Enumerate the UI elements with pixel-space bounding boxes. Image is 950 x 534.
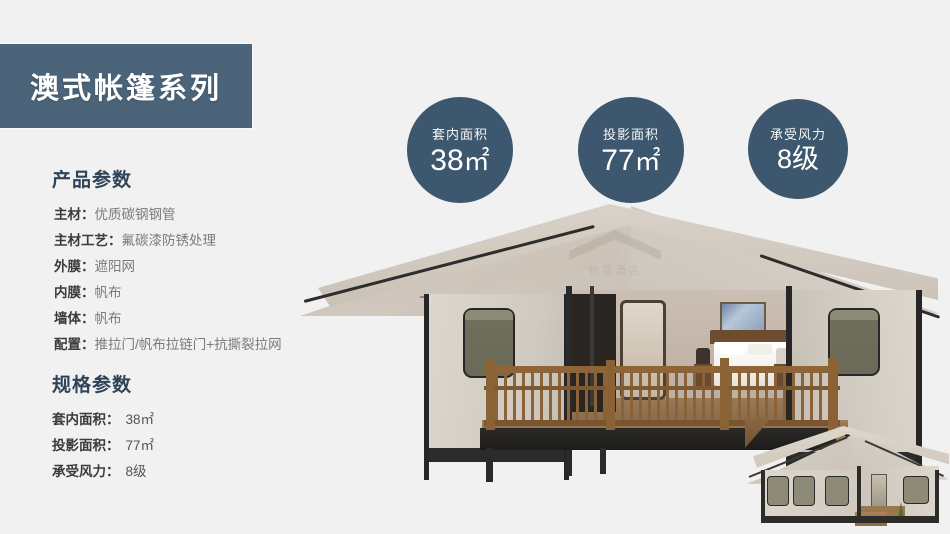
param-label: 主材工艺： <box>54 233 122 248</box>
thumb-post <box>857 466 861 522</box>
thumb-window <box>825 476 849 506</box>
railing-mid-rail <box>484 386 840 390</box>
thumb-door <box>871 474 887 510</box>
param-label: 外膜： <box>54 259 95 274</box>
spec-value: 38㎡ <box>120 412 155 427</box>
watermark-roof-icon <box>569 230 661 260</box>
param-row: 主材工艺：氟碳漆防锈处理 <box>52 228 282 254</box>
stat-badge-interior-area: 套内面积 38㎡ <box>407 97 513 203</box>
railing-post <box>606 360 615 430</box>
spec-label: 套内面积： <box>52 412 120 427</box>
product-parameters-section: 产品参数 主材：优质碳钢钢管 主材工艺：氟碳漆防锈处理 外膜：遮阳网 内膜：帆布… <box>52 165 282 358</box>
param-value: 帆布 <box>95 285 122 300</box>
param-row: 配置：推拉门/帆布拉链门+抗撕裂拉网 <box>52 332 282 358</box>
tent-thumbnail-image[interactable] <box>745 418 950 534</box>
thumb-window <box>767 476 789 506</box>
page-title: 澳式帐篷系列 <box>30 65 222 107</box>
stat-badge-caption: 投影面积 <box>603 124 659 143</box>
wall-left-base <box>428 448 568 462</box>
wall-art <box>720 302 766 332</box>
param-row: 内膜：帆布 <box>52 280 282 306</box>
support-leg <box>486 448 493 482</box>
lamp-left <box>696 348 710 364</box>
spec-value: 8级 <box>120 464 147 479</box>
stat-badge-projection-area: 投影面积 77㎡ <box>578 97 684 203</box>
thumb-post <box>935 470 939 520</box>
railing-post <box>720 358 729 430</box>
slide-canvas: 澳式帐篷系列 产品参数 主材：优质碳钢钢管 主材工艺：氟碳漆防锈处理 外膜：遮阳… <box>0 0 950 534</box>
stat-badge-value: 38㎡ <box>430 145 489 177</box>
stat-badge-value: 8级 <box>777 145 819 173</box>
param-value: 优质碳钢钢管 <box>95 207 176 222</box>
railing-top-rail <box>484 366 840 373</box>
stat-badge-unit: ㎡ <box>464 146 490 176</box>
support-leg <box>600 448 606 474</box>
stat-badge-unit: ㎡ <box>635 146 661 176</box>
railing-post <box>486 360 495 430</box>
param-label: 墙体： <box>54 311 95 326</box>
pillow-right <box>748 344 772 355</box>
watermark-text: 帐篷酒店 <box>589 265 641 277</box>
window-right-valance <box>830 310 878 320</box>
window-left-valance <box>465 310 513 320</box>
param-row: 墙体：帆布 <box>52 306 282 332</box>
pillow-left <box>720 344 744 355</box>
stat-badge-value: 77㎡ <box>601 145 660 177</box>
param-value: 氟碳漆防锈处理 <box>122 233 217 248</box>
param-row: 外膜：遮阳网 <box>52 254 282 280</box>
spec-row: 承受风力：8级 <box>52 459 154 485</box>
spec-row: 投影面积：77㎡ <box>52 433 154 459</box>
corner-post-left <box>424 294 429 480</box>
param-value: 帆布 <box>95 311 122 326</box>
thumb-post <box>761 470 765 522</box>
spec-label: 承受风力： <box>52 464 120 479</box>
watermark: 帐篷酒店 <box>550 230 680 290</box>
thumb-window <box>793 476 815 506</box>
spec-label: 投影面积： <box>52 438 120 453</box>
thumb-window <box>903 476 929 504</box>
param-label: 配置： <box>54 337 95 352</box>
spec-value: 77㎡ <box>120 438 155 453</box>
param-value: 遮阳网 <box>95 259 136 274</box>
param-row: 主材：优质碳钢钢管 <box>52 202 282 228</box>
stat-badge-caption: 承受风力 <box>770 124 826 143</box>
param-label: 主材： <box>54 207 95 222</box>
spec-parameters-section: 规格参数 套内面积：38㎡ 投影面积：77㎡ 承受风力：8级 <box>52 370 154 485</box>
param-value: 推拉门/帆布拉链门+抗撕裂拉网 <box>95 337 282 352</box>
stat-badge-wind-resistance: 承受风力 8级 <box>748 99 848 199</box>
product-parameters-heading: 产品参数 <box>52 165 282 192</box>
thumb-base <box>761 516 939 523</box>
param-label: 内膜： <box>54 285 95 300</box>
spec-parameters-heading: 规格参数 <box>52 370 154 397</box>
stat-badge-caption: 套内面积 <box>432 124 488 143</box>
title-banner: 澳式帐篷系列 <box>0 44 252 128</box>
spec-row: 套内面积：38㎡ <box>52 407 154 433</box>
